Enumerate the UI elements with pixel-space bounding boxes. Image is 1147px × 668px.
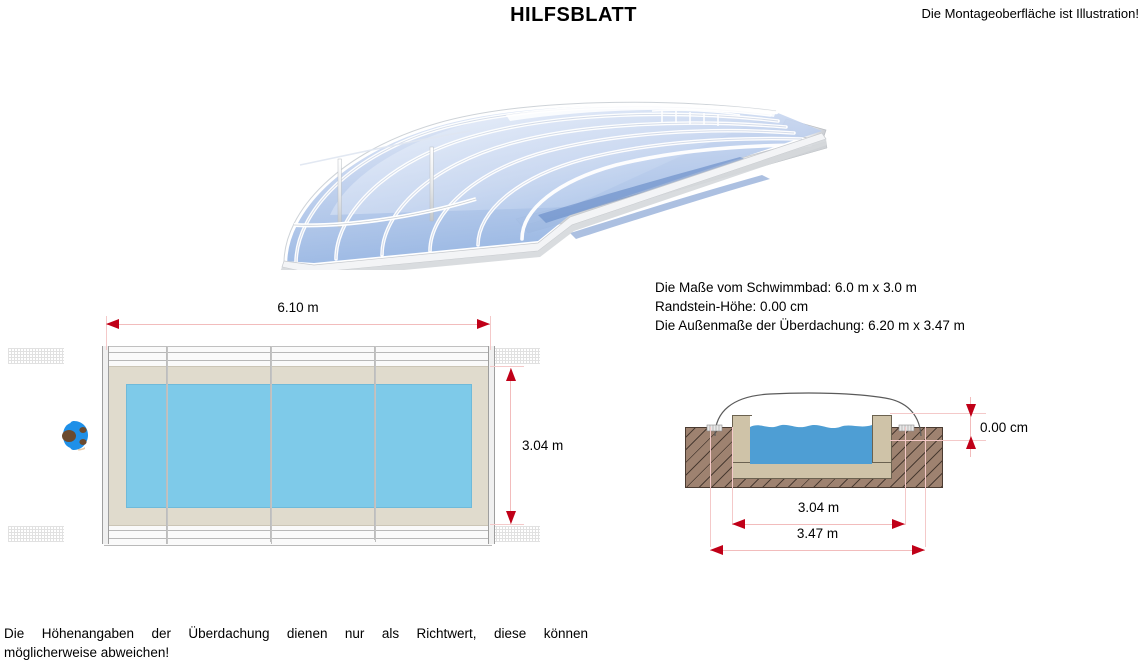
disclaimer-line-1: Die Höhenangaben der Überdachung dienen …: [4, 624, 588, 643]
pool-cross-section-view: 3.04 m 3.47 m 0.00 cm: [680, 400, 950, 510]
disclaimer-line-2: möglicherweise abweichen!: [4, 643, 588, 662]
enclosure-canopy-outline: [710, 392, 925, 437]
section-ext-line-inner-right: [905, 427, 906, 525]
section-kerb-arrow-bottom: [966, 436, 976, 449]
section-kerb-arrow-top: [966, 404, 976, 417]
section-outer-dimension-line: [710, 550, 925, 551]
section-inner-width-label: 3.04 m: [732, 500, 905, 515]
enclosure-segment-1: [104, 346, 168, 544]
plan-width-dimension-line: [510, 368, 511, 524]
illustration-note: Die Montageoberfläche ist Illustration!: [921, 6, 1139, 21]
enclosure-segment-4: [374, 346, 494, 540]
plan-length-label: 6.10 m: [60, 300, 536, 315]
rail-extension-bottom-left: [8, 526, 64, 542]
plan-width-arrow-bottom: [506, 511, 516, 524]
plan-length-arrow-left: [106, 319, 119, 329]
spec-pool-dimensions: Die Maße vom Schwimmbad: 6.0 m x 3.0 m: [655, 278, 965, 297]
section-outer-arrow-left: [710, 545, 723, 555]
section-outer-arrow-right: [912, 545, 925, 555]
section-kerb-height-label: 0.00 cm: [980, 420, 1028, 435]
plan-ext-line-right: [490, 316, 491, 350]
plan-length-dimension-line: [106, 324, 490, 325]
enclosure-segment-2: [166, 346, 272, 544]
plan-ext-line-bottom: [490, 524, 524, 525]
rail-extension-top-left: [8, 348, 64, 364]
rail-fixing-right-icon: [895, 422, 917, 434]
rail-fixing-left-icon: [705, 422, 727, 434]
enclosure-end-post-left: [102, 346, 109, 544]
enclosure-end-post-right: [488, 346, 495, 544]
plan-ext-line-top: [490, 366, 524, 367]
pool-specifications: Die Maße vom Schwimmbad: 6.0 m x 3.0 m R…: [655, 278, 965, 335]
section-outer-width-label: 3.47 m: [710, 526, 925, 541]
pool-enclosure-3d-illustration: [270, 95, 830, 270]
height-disclaimer: Die Höhenangaben der Überdachung dienen …: [4, 624, 588, 662]
spec-enclosure-dimensions: Die Außenmaße der Überdachung: 6.20 m x …: [655, 316, 965, 335]
plan-width-arrow-top: [506, 368, 516, 381]
section-ext-line-outer-right: [925, 427, 926, 547]
canopy-body: [280, 102, 827, 270]
pool-plan-view: 6.10 m 3.04 m: [60, 340, 530, 555]
person-figure-icon: [58, 418, 92, 454]
enclosure-segment-3: [270, 346, 376, 542]
plan-length-arrow-right: [477, 319, 490, 329]
pool-shell-floor: [732, 462, 892, 479]
section-inner-dimension-line: [732, 524, 905, 525]
spec-kerb-height: Randstein-Höhe: 0.00 cm: [655, 297, 965, 316]
plan-width-label: 3.04 m: [522, 438, 563, 453]
